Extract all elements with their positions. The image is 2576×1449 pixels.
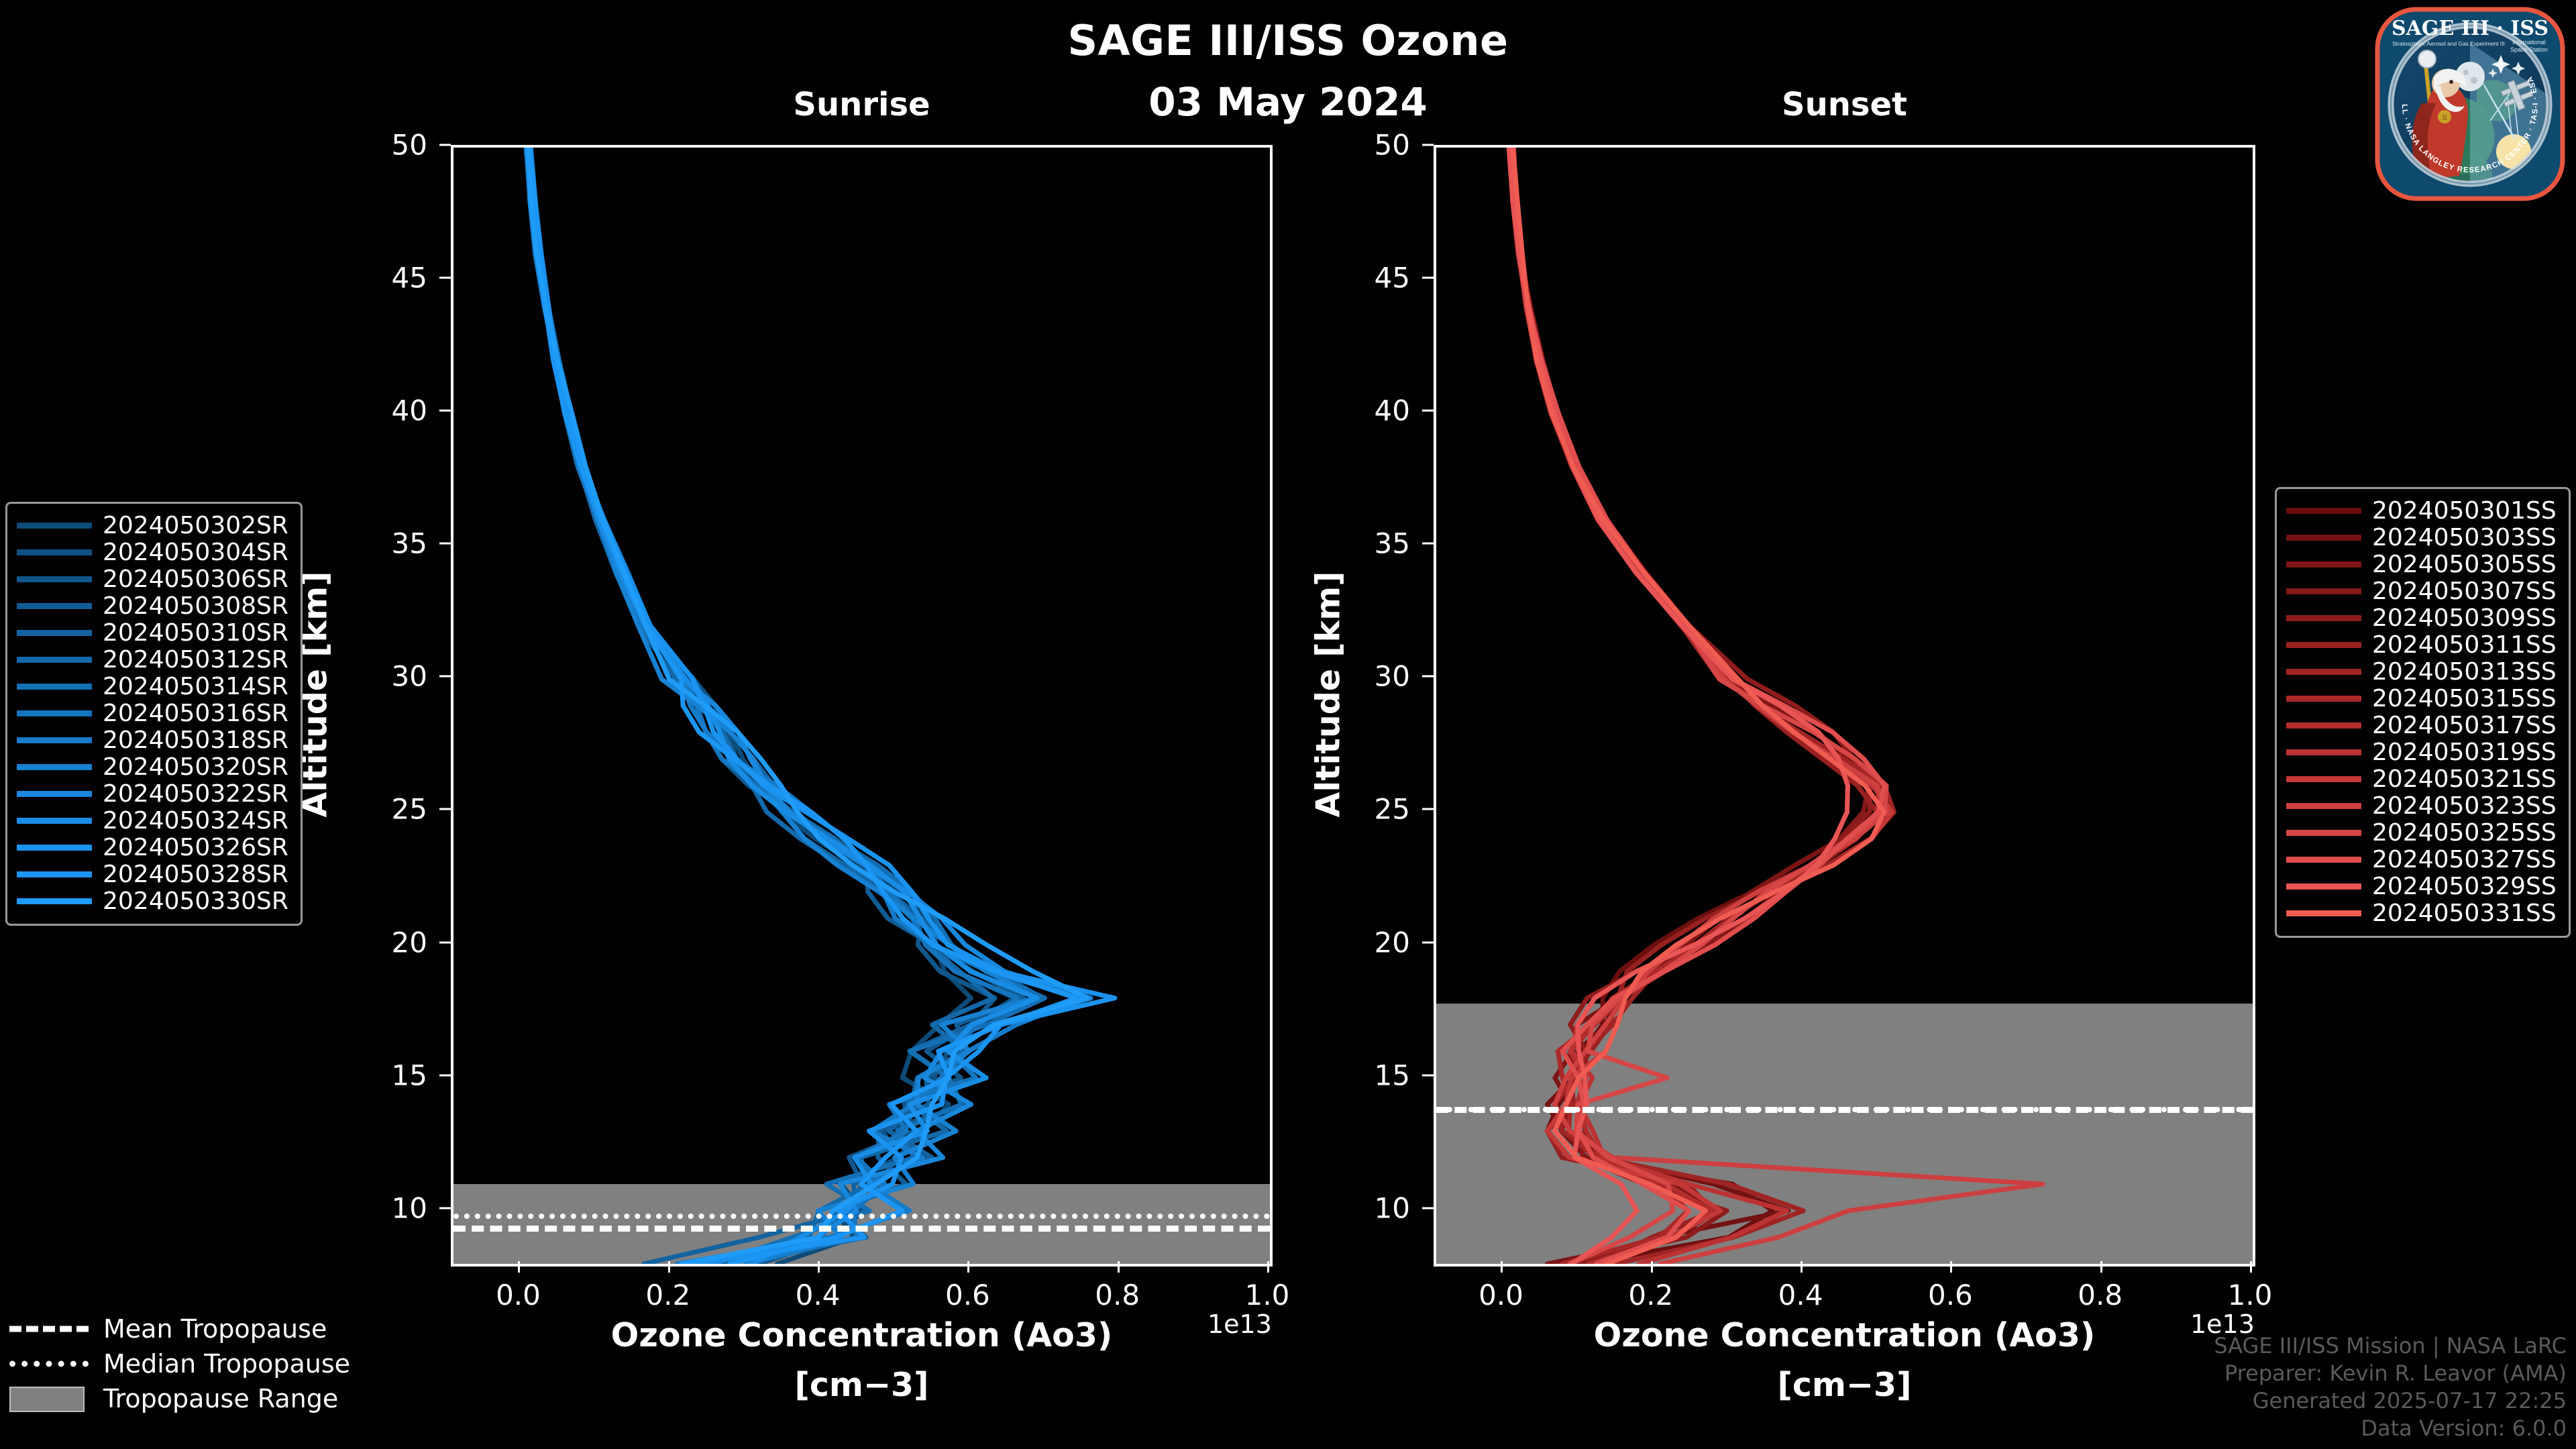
- x-tick-mark: [1118, 1261, 1120, 1273]
- x-tick-label: 0.2: [614, 1279, 722, 1311]
- tropopause-legend: Mean Tropopause Median Tropopause Tropop…: [9, 1311, 350, 1416]
- patch-title: SAGE III · ISS: [2392, 17, 2548, 40]
- x-axis-units-right: [cm−3]: [1434, 1366, 2255, 1404]
- x-tick-mark: [1501, 1261, 1503, 1273]
- legend-item[interactable]: 2024050319SS: [2286, 739, 2557, 765]
- y-tick-label: 40: [1303, 394, 1410, 427]
- sage-iii-iss-mission-patch-logo: S BALL · NASA LANGLEY RESEARCH CENTER · …: [2369, 3, 2571, 204]
- y-tick-mark: [1422, 808, 1434, 810]
- y-tick-label: 45: [320, 262, 427, 294]
- series-line: [1513, 148, 1884, 1264]
- legend-item-label: 2024050312SR: [103, 646, 288, 674]
- legend-item[interactable]: 2024050314SR: [17, 673, 288, 700]
- y-tick-label: 15: [320, 1059, 427, 1091]
- x-tick-label: 0.6: [1896, 1279, 2004, 1311]
- sunrise-plot-area: [451, 145, 1273, 1267]
- legend-item-label: 2024050303SS: [2372, 524, 2557, 551]
- legend-item-label: 2024050318SR: [103, 727, 288, 754]
- credit-preparer: Preparer: Kevin R. Leavor (AMA): [2214, 1360, 2567, 1387]
- legend-row-tropopause-range: Tropopause Range: [9, 1381, 350, 1416]
- legend-item[interactable]: 2024050323SS: [2286, 792, 2557, 819]
- legend-item[interactable]: 2024050329SS: [2286, 873, 2557, 900]
- credit-data-version: Data Version: 6.0.0: [2214, 1415, 2567, 1442]
- legend-item[interactable]: 2024050326SR: [17, 834, 288, 861]
- legend-item[interactable]: 2024050316SR: [17, 700, 288, 727]
- legend-color-swatch: [17, 818, 92, 824]
- y-tick-label: 30: [1303, 660, 1410, 693]
- legend-color-swatch: [17, 871, 92, 877]
- y-tick-label: 15: [1303, 1059, 1410, 1091]
- legend-item-label: 2024050313SS: [2372, 658, 2557, 686]
- legend-color-swatch: [17, 523, 92, 529]
- y-tick-mark: [439, 543, 451, 545]
- series-line: [529, 148, 1114, 1264]
- legend-item-label: 2024050306SR: [103, 566, 288, 593]
- legend-item[interactable]: 2024050305SS: [2286, 551, 2557, 578]
- legend-item-label: 2024050331SS: [2372, 900, 2557, 927]
- x-tick-mark: [2100, 1261, 2102, 1273]
- credit-generated: Generated 2025-07-17 22:25: [2214, 1387, 2567, 1415]
- legend-color-swatch: [2286, 535, 2361, 541]
- y-tick-label: 40: [320, 394, 427, 427]
- y-tick-mark: [439, 277, 451, 279]
- legend-item[interactable]: 2024050328SR: [17, 861, 288, 888]
- x-tick-label: 0.0: [1447, 1279, 1554, 1311]
- legend-item[interactable]: 2024050303SS: [2286, 524, 2557, 551]
- legend-item-label: 2024050323SS: [2372, 792, 2557, 820]
- median-tropopause-label: Median Tropopause: [103, 1349, 350, 1379]
- legend-item-label: 2024050314SR: [103, 673, 288, 700]
- legend-color-swatch: [17, 791, 92, 797]
- x-tick-label: 1.0: [1214, 1279, 1321, 1311]
- legend-item-label: 2024050301SS: [2372, 497, 2557, 525]
- y-tick-label: 30: [320, 660, 427, 693]
- y-tick-mark: [1422, 277, 1434, 279]
- legend-item[interactable]: 2024050308SR: [17, 592, 288, 619]
- y-tick-label: 20: [320, 926, 427, 959]
- y-tick-label: 50: [1303, 129, 1410, 162]
- legend-color-swatch: [2286, 642, 2361, 648]
- x-tick-mark: [967, 1261, 969, 1273]
- legend-item-label: 2024050330SR: [103, 888, 288, 915]
- legend-sunset[interactable]: 2024050301SS2024050303SS2024050305SS2024…: [2275, 487, 2571, 938]
- y-tick-label: 25: [1303, 793, 1410, 826]
- legend-color-swatch: [17, 710, 92, 716]
- legend-item-label: 2024050309SS: [2372, 604, 2557, 632]
- legend-item[interactable]: 2024050322SR: [17, 780, 288, 807]
- median-tropopause-dot-icon: [9, 1356, 89, 1371]
- ozone-profile-curves: [453, 148, 1270, 1264]
- series-line: [530, 148, 1076, 1264]
- y-tick-mark: [1422, 410, 1434, 412]
- legend-item-label: 2024050315SS: [2372, 685, 2557, 712]
- legend-color-swatch: [2286, 749, 2361, 755]
- legend-color-swatch: [2286, 588, 2361, 594]
- legend-item-label: 2024050316SR: [103, 700, 288, 727]
- y-tick-mark: [1422, 1207, 1434, 1209]
- x-tick-mark: [1801, 1261, 1803, 1273]
- legend-item[interactable]: 2024050312SR: [17, 646, 288, 673]
- series-line: [531, 148, 1024, 1264]
- y-tick-mark: [439, 808, 451, 810]
- x-tick-label: 0.4: [764, 1279, 871, 1311]
- legend-item-label: 2024050326SR: [103, 834, 288, 861]
- legend-item-label: 2024050324SR: [103, 807, 288, 835]
- y-tick-mark: [439, 1074, 451, 1076]
- legend-color-swatch: [2286, 508, 2361, 514]
- legend-item[interactable]: 2024050307SS: [2286, 578, 2557, 604]
- credits-block: SAGE III/ISS Mission | NASA LaRC Prepare…: [2214, 1332, 2567, 1442]
- legend-item[interactable]: 2024050320SR: [17, 753, 288, 780]
- x-tick-mark: [1651, 1261, 1653, 1273]
- legend-item-label: 2024050305SS: [2372, 551, 2557, 578]
- y-axis-title-right: Altitude [km]: [1309, 571, 1348, 817]
- legend-item-label: 2024050321SS: [2372, 765, 2557, 793]
- legend-item-label: 2024050308SR: [103, 592, 288, 620]
- legend-color-swatch: [17, 898, 92, 904]
- y-tick-label: 20: [1303, 926, 1410, 959]
- legend-color-swatch: [2286, 722, 2361, 729]
- legend-item[interactable]: 2024050310SR: [17, 619, 288, 646]
- series-line: [527, 148, 1045, 1264]
- y-tick-mark: [439, 941, 451, 943]
- legend-item[interactable]: 2024050304SR: [17, 539, 288, 566]
- legend-color-swatch: [17, 630, 92, 636]
- y-tick-mark: [439, 676, 451, 678]
- ozone-profile-curves: [1436, 148, 2253, 1264]
- legend-item-label: 2024050307SS: [2372, 578, 2557, 605]
- y-tick-label: 10: [1303, 1191, 1410, 1224]
- y-tick-mark: [439, 144, 451, 146]
- legend-color-swatch: [2286, 696, 2361, 702]
- legend-color-swatch: [17, 576, 92, 582]
- x-tick-label: 0.6: [914, 1279, 1021, 1311]
- x-tick-label: 0.8: [1064, 1279, 1171, 1311]
- series-line: [527, 148, 1042, 1264]
- series-line: [527, 148, 1091, 1264]
- x-tick-label: 0.0: [464, 1279, 572, 1311]
- y-tick-mark: [1422, 543, 1434, 545]
- x-tick-label: 1.0: [2196, 1279, 2304, 1311]
- legend-item-label: 2024050302SR: [103, 512, 288, 539]
- x-tick-label: 0.2: [1597, 1279, 1705, 1311]
- legend-item[interactable]: 2024050315SS: [2286, 685, 2557, 712]
- legend-item-label: 2024050311SS: [2372, 631, 2557, 659]
- legend-item[interactable]: 2024050301SS: [2286, 497, 2557, 524]
- legend-item[interactable]: 2024050309SS: [2286, 604, 2557, 631]
- legend-color-swatch: [2286, 561, 2361, 568]
- y-tick-mark: [1422, 941, 1434, 943]
- legend-item-label: 2024050329SS: [2372, 873, 2557, 900]
- legend-color-swatch: [17, 737, 92, 743]
- legend-color-swatch: [2286, 883, 2361, 890]
- panel-title-sunset: Sunset: [1434, 86, 2255, 123]
- x-tick-mark: [2250, 1261, 2252, 1273]
- y-tick-mark: [1422, 676, 1434, 678]
- legend-color-swatch: [2286, 857, 2361, 863]
- x-tick-mark: [1950, 1261, 1952, 1273]
- credit-mission: SAGE III/ISS Mission | NASA LaRC: [2214, 1332, 2567, 1360]
- legend-item-label: 2024050304SR: [103, 539, 288, 566]
- x-tick-mark: [818, 1261, 820, 1273]
- x-axis-offset-left: 1e13: [1207, 1309, 1272, 1339]
- legend-item-label: 2024050320SR: [103, 753, 288, 781]
- legend-item-label: 2024050327SS: [2372, 846, 2557, 873]
- legend-item[interactable]: 2024050313SS: [2286, 658, 2557, 685]
- mean-tropopause-label: Mean Tropopause: [103, 1314, 327, 1344]
- patch-sub-left: Stratospheric Aerosol and Gas Experiment…: [2392, 40, 2505, 47]
- legend-item[interactable]: 2024050317SS: [2286, 712, 2557, 739]
- page-title: SAGE III/ISS Ozone: [0, 16, 2576, 65]
- median-tropopause-line: [453, 1214, 1270, 1219]
- legend-item-label: 2024050317SS: [2372, 712, 2557, 739]
- mean-tropopause-line: [1436, 1107, 2253, 1113]
- y-tick-label: 35: [1303, 527, 1410, 560]
- mean-tropopause-line: [453, 1226, 1270, 1232]
- x-tick-mark: [518, 1261, 520, 1273]
- x-tick-mark: [668, 1261, 670, 1273]
- svg-text:S: S: [2442, 113, 2447, 122]
- legend-color-swatch: [2286, 669, 2361, 675]
- mean-tropopause-dash-icon: [9, 1322, 89, 1336]
- legend-item[interactable]: 2024050331SS: [2286, 900, 2557, 926]
- y-tick-mark: [1422, 144, 1434, 146]
- legend-item-label: 2024050319SS: [2372, 739, 2557, 766]
- sunset-plot-area: [1434, 145, 2255, 1267]
- legend-item[interactable]: 2024050325SS: [2286, 819, 2557, 846]
- legend-color-swatch: [2286, 910, 2361, 916]
- legend-color-swatch: [17, 549, 92, 555]
- x-axis-title-right: Ozone Concentration (Ao3): [1434, 1316, 2255, 1354]
- legend-item[interactable]: 2024050327SS: [2286, 846, 2557, 873]
- y-tick-label: 35: [320, 527, 427, 560]
- legend-color-swatch: [2286, 803, 2361, 809]
- panel-title-sunrise: Sunrise: [451, 86, 1273, 123]
- legend-item[interactable]: 2024050324SR: [17, 807, 288, 834]
- series-line: [528, 148, 1087, 1264]
- legend-item[interactable]: 2024050306SR: [17, 566, 288, 592]
- y-tick-label: 50: [320, 129, 427, 162]
- legend-item-label: 2024050325SS: [2372, 819, 2557, 847]
- y-tick-mark: [439, 410, 451, 412]
- legend-color-swatch: [17, 603, 92, 609]
- legend-color-swatch: [2286, 830, 2361, 836]
- y-tick-label: 25: [320, 793, 427, 826]
- x-axis-title-left: Ozone Concentration (Ao3): [451, 1316, 1273, 1354]
- legend-color-swatch: [17, 845, 92, 851]
- legend-color-swatch: [17, 764, 92, 770]
- legend-color-swatch: [2286, 615, 2361, 621]
- x-tick-label: 0.8: [2047, 1279, 2154, 1311]
- legend-row-median-tropopause: Median Tropopause: [9, 1346, 350, 1381]
- legend-color-swatch: [17, 657, 92, 663]
- x-tick-mark: [1267, 1261, 1269, 1273]
- legend-item[interactable]: 2024050318SR: [17, 727, 288, 753]
- tropopause-range-label: Tropopause Range: [103, 1384, 338, 1413]
- legend-row-mean-tropopause: Mean Tropopause: [9, 1311, 350, 1346]
- y-tick-label: 45: [1303, 262, 1410, 294]
- series-line: [531, 148, 1083, 1264]
- legend-item-label: 2024050328SR: [103, 861, 288, 888]
- x-tick-label: 0.4: [1747, 1279, 1854, 1311]
- legend-item[interactable]: 2024050302SR: [17, 512, 288, 539]
- legend-item-label: 2024050322SR: [103, 780, 288, 808]
- y-tick-mark: [439, 1207, 451, 1209]
- x-axis-units-left: [cm−3]: [451, 1366, 1273, 1404]
- legend-color-swatch: [2286, 776, 2361, 782]
- legend-sunrise[interactable]: 2024050302SR2024050304SR2024050306SR2024…: [5, 502, 303, 926]
- legend-item-label: 2024050310SR: [103, 619, 288, 647]
- y-tick-mark: [1422, 1074, 1434, 1076]
- legend-item[interactable]: 2024050321SS: [2286, 765, 2557, 792]
- tropopause-range-swatch-icon: [9, 1391, 89, 1406]
- y-tick-label: 10: [320, 1191, 427, 1224]
- patch-sub-right-2: Space Station: [2510, 46, 2548, 53]
- legend-item[interactable]: 2024050311SS: [2286, 631, 2557, 658]
- legend-color-swatch: [17, 684, 92, 690]
- legend-item[interactable]: 2024050330SR: [17, 888, 288, 914]
- patch-sub-right-1: International: [2512, 39, 2546, 46]
